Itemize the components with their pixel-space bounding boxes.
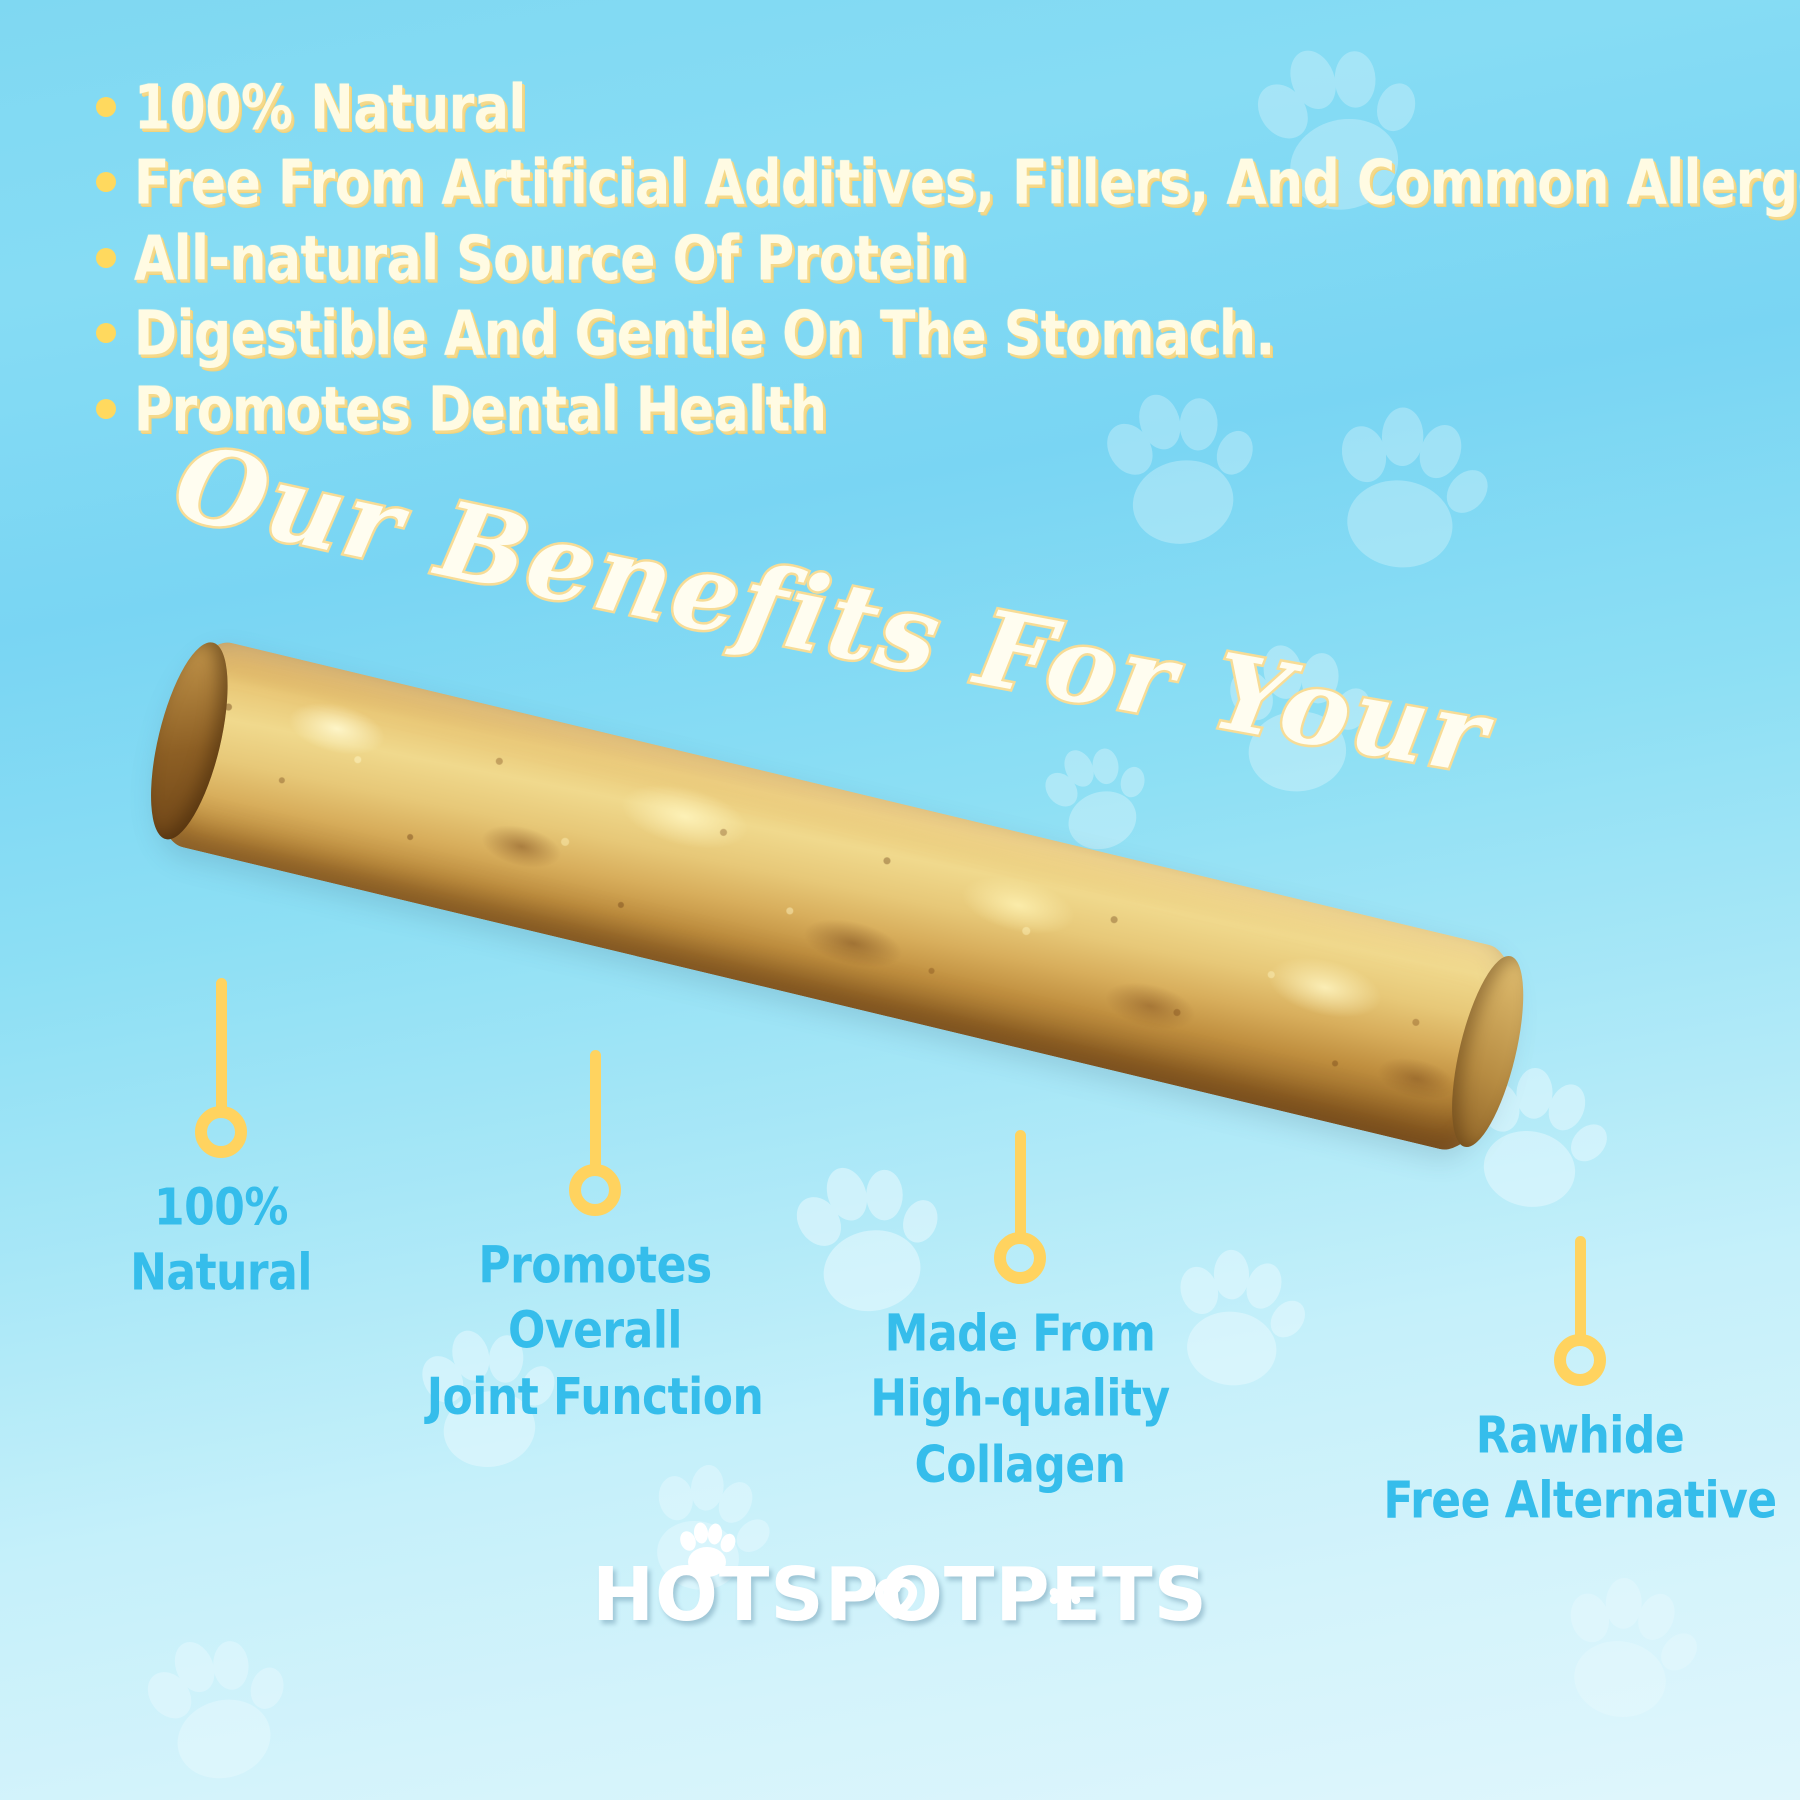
product-benefits-infographic: 100% Natural Free From Artificial Additi… xyxy=(0,0,1800,1800)
logo-bone-icon xyxy=(1047,1588,1083,1604)
pin-ring-icon xyxy=(994,1232,1046,1284)
stick-texture xyxy=(140,633,1531,1159)
pin-ring-icon xyxy=(569,1164,621,1216)
logo-heart-icon xyxy=(873,1574,919,1620)
headline-script: Our Benefits For Your Dog's Health! xyxy=(150,455,1630,805)
pin-ring-icon xyxy=(195,1106,247,1158)
stick-right-end xyxy=(1438,950,1538,1154)
callout-label: Made From High-quality Collagen xyxy=(830,1302,1210,1498)
bullet-dot-icon xyxy=(96,248,116,268)
benefit-item: 100% Natural xyxy=(96,72,1736,135)
brand-logo: HOTSPOTPETS xyxy=(0,1558,1800,1632)
product-image xyxy=(165,600,1585,1100)
paw-print-icon xyxy=(1437,1038,1632,1237)
callout-label: Rawhide Free Alternative xyxy=(1380,1404,1780,1535)
paw-print-icon xyxy=(1015,717,1175,879)
callout-label: 100% Natural xyxy=(126,1176,316,1307)
paw-print-icon xyxy=(759,1130,972,1346)
logo-paw-icon xyxy=(676,1522,738,1582)
benefit-label: Digestible And Gentle On The Stomach. xyxy=(134,298,1275,373)
pin-line xyxy=(1575,1236,1586,1342)
bullet-dot-icon xyxy=(96,323,116,343)
bullet-dot-icon xyxy=(96,172,116,192)
benefit-label: Free From Artificial Additives, Fillers,… xyxy=(134,147,1800,222)
paw-print-icon xyxy=(1200,620,1391,815)
callout-label: Promotes Overall Joint Function xyxy=(400,1234,790,1430)
paw-print-icon xyxy=(1145,1226,1325,1410)
benefit-item: Digestible And Gentle On The Stomach. xyxy=(96,298,1736,361)
benefit-label: All-natural Source Of Protein xyxy=(134,223,967,298)
benefit-item: Free From Artificial Additives, Fillers,… xyxy=(96,147,1736,210)
benefit-item: Promotes Dental Health xyxy=(96,374,1736,437)
pin-ring-icon xyxy=(1554,1334,1606,1386)
paw-print-icon xyxy=(390,1301,580,1495)
collagen-chew-stick xyxy=(140,633,1531,1159)
stick-left-end xyxy=(136,635,243,846)
benefit-item: All-natural Source Of Protein xyxy=(96,223,1736,286)
benefit-label: 100% Natural xyxy=(134,72,526,147)
pin-line xyxy=(216,978,227,1114)
pin-line xyxy=(590,1050,601,1172)
pin-line xyxy=(1015,1130,1026,1240)
benefit-label: Promotes Dental Health xyxy=(134,374,826,449)
bullet-dot-icon xyxy=(96,97,116,117)
benefits-list: 100% Natural Free From Artificial Additi… xyxy=(96,72,1736,449)
bullet-dot-icon xyxy=(96,399,116,419)
